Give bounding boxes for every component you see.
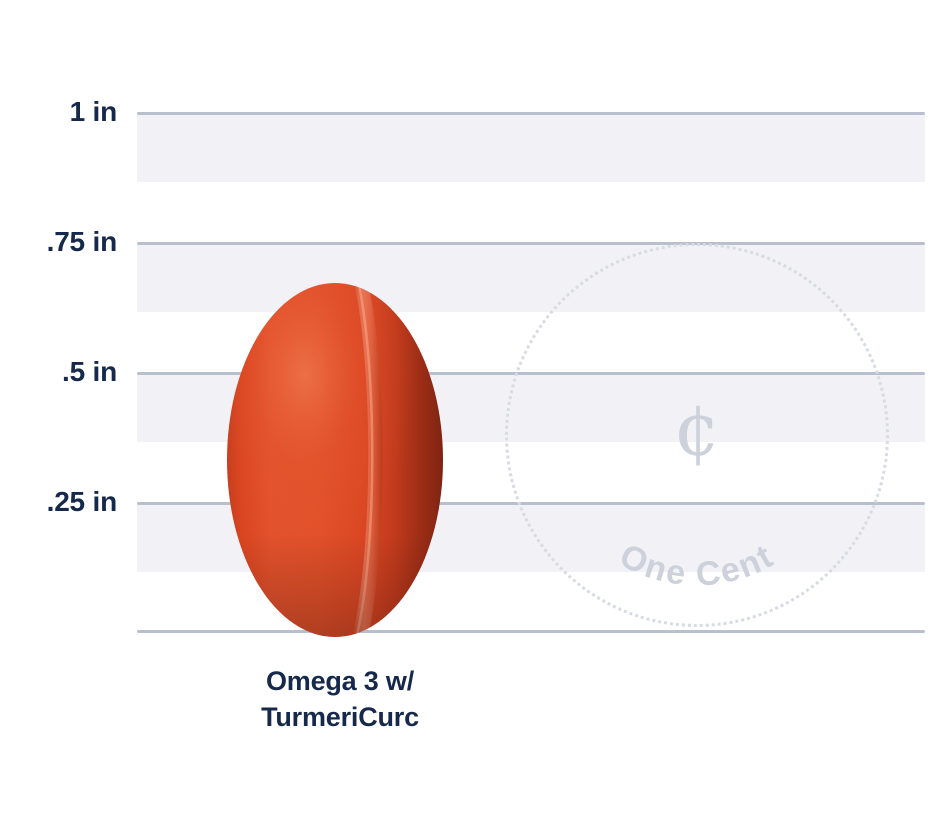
grid-band-1 — [137, 115, 925, 182]
caption-line-2: TurmeriCurc — [180, 700, 500, 736]
softgel-shape-svg — [227, 283, 443, 637]
caption-line-1: Omega 3 w/ — [180, 664, 500, 700]
axis-tick-label-025in: .25 in — [0, 488, 117, 516]
product-softgel-pill — [227, 283, 443, 637]
gridline-1in — [137, 112, 925, 115]
cent-symbol-icon: ¢ — [505, 393, 889, 467]
axis-tick-label-1in: 1 in — [0, 98, 117, 126]
product-caption: Omega 3 w/ TurmeriCurc — [180, 664, 500, 735]
size-comparison-chart: 1 in .75 in .5 in .25 in One Cent ¢ — [0, 0, 950, 820]
axis-tick-label-075in: .75 in — [0, 228, 117, 256]
axis-tick-label-05in: .5 in — [0, 358, 117, 386]
penny-reference: One Cent ¢ — [505, 243, 889, 627]
